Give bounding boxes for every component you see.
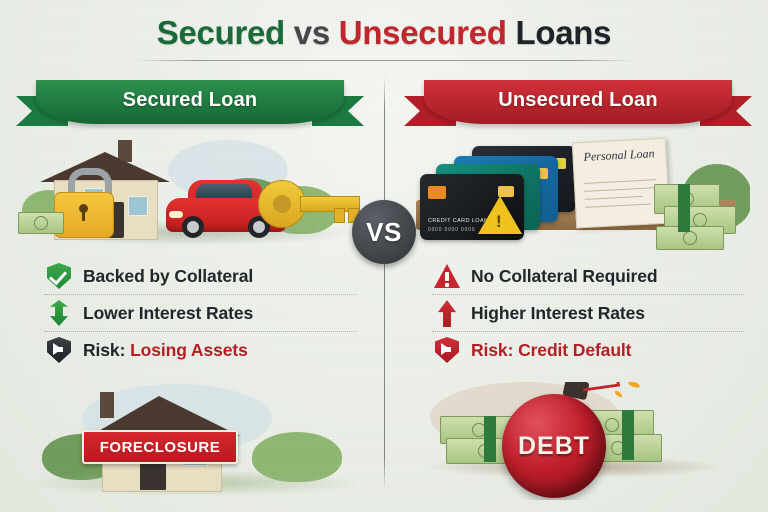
secured-feature-list: Backed by Collateral Lower Interest Rate… [44, 258, 356, 368]
foreclosure-sign: FORECLOSURE [82, 430, 238, 464]
bomb-label: DEBT [518, 432, 590, 461]
foreclosure-sign-label: FORECLOSURE [100, 439, 221, 456]
warning-triangle-icon [432, 261, 462, 291]
credit-cards-and-loan-documents-illustration: CREDIT CARD LOAN 0000 0000 0000 Personal… [406, 134, 750, 254]
shield-arrow-icon [44, 335, 74, 365]
vs-badge-label: VS [366, 217, 402, 248]
debt-bomb-icon: DEBT [502, 388, 632, 498]
bill-bottom [656, 226, 724, 250]
cash-band [678, 184, 690, 232]
unsecured-feature-list: No Collateral Required Higher Interest R… [432, 258, 744, 368]
risk-prefix: Risk: [83, 340, 125, 360]
title-loans: Loans [516, 14, 612, 51]
debt-bomb-illustration: DEBT [410, 382, 758, 500]
unsecured-loan-banner: Unsecured Loan [408, 80, 748, 128]
title-secured: Secured [157, 14, 285, 51]
spark [628, 382, 641, 389]
key-bow [258, 180, 306, 228]
feature-row-backed-by-collateral: Backed by Collateral [44, 258, 356, 294]
arrow-up-icon [432, 298, 462, 328]
chimney [100, 392, 114, 418]
title-unsecured: Unsecured [339, 14, 507, 51]
feature-label: Risk: Losing Assets [83, 340, 248, 361]
feature-label: No Collateral Required [471, 266, 657, 287]
ribbon-band: Unsecured Loan [424, 80, 732, 124]
feature-label: Backed by Collateral [83, 266, 253, 287]
key-tooth-1 [334, 208, 345, 223]
feature-label: Lower Interest Rates [83, 303, 253, 324]
cash-band [484, 416, 496, 462]
feature-label: Higher Interest Rates [471, 303, 645, 324]
double-arrow-down-icon [44, 298, 74, 328]
key-icon [258, 180, 362, 230]
risk-prefix: Risk: [471, 340, 513, 360]
vs-badge: VS [352, 200, 416, 264]
car-wheel-front [182, 216, 204, 238]
personal-loan-document: Personal Loan [572, 138, 670, 229]
title-underline [135, 60, 635, 61]
feature-label: Risk: Credit Default [471, 340, 631, 361]
spark [614, 390, 623, 399]
bill [18, 212, 64, 234]
feature-row-no-collateral-required: No Collateral Required [432, 258, 744, 294]
secured-loan-banner-label: Secured Loan [123, 89, 258, 112]
feature-row-lower-interest-rates: Lower Interest Rates [44, 294, 356, 331]
credit-card-number: 0000 0000 0000 [428, 227, 475, 233]
chimney [118, 140, 132, 162]
document-title: Personal Loan [583, 147, 658, 163]
secured-loan-banner: Secured Loan [20, 80, 360, 128]
feature-row-risk-losing-assets: Risk: Losing Assets [44, 331, 356, 368]
shield-arrow-icon [432, 335, 462, 365]
risk-value: Credit Default [518, 340, 631, 360]
ribbon-band: Secured Loan [36, 80, 344, 124]
foreclosure-house-illustration: FORECLOSURE [22, 382, 366, 500]
garage-door [140, 464, 166, 490]
bomb-ball: DEBT [502, 394, 606, 498]
car-headlight [169, 211, 183, 218]
infographic-root: Secured vs Unsecured Loans VS Secured Lo… [0, 0, 768, 512]
page-title: Secured vs Unsecured Loans [0, 14, 768, 52]
unsecured-loan-banner-label: Unsecured Loan [498, 89, 658, 112]
shield-check-icon [44, 261, 74, 291]
feature-row-risk-credit-default: Risk: Credit Default [432, 331, 744, 368]
padlock-keyhole [79, 204, 88, 213]
window-right [128, 196, 148, 216]
risk-value: Losing Assets [130, 340, 248, 360]
column-divider [384, 76, 386, 490]
feature-row-higher-interest-rates: Higher Interest Rates [432, 294, 744, 331]
title-vs: vs [294, 14, 330, 51]
warning-triangle-icon: ! [478, 196, 522, 234]
collateral-assets-illustration [18, 134, 362, 254]
